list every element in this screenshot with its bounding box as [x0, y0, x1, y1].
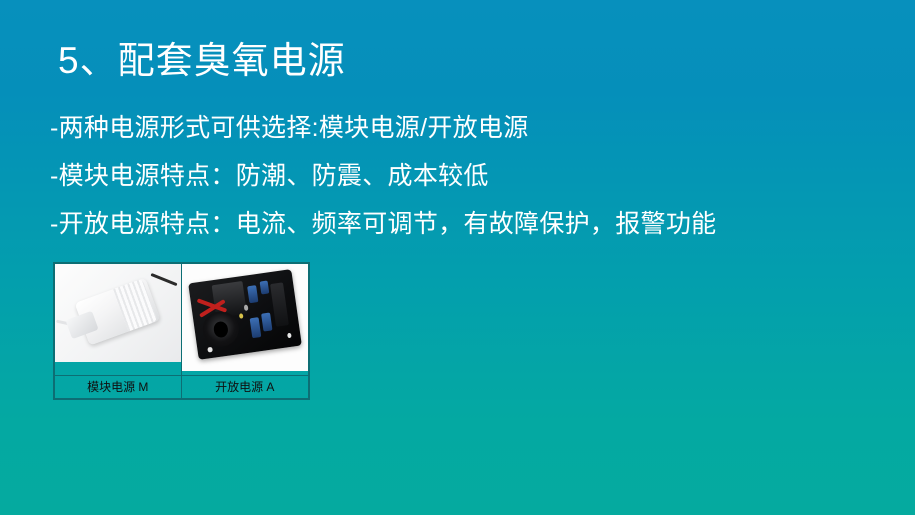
figure-cell-open	[182, 264, 309, 375]
mounting-hole	[207, 347, 212, 353]
capacitor-shape	[261, 312, 272, 331]
slide-canvas: 5、配套臭氧电源 -两种电源形式可供选择:模块电源/开放电源 -模块电源特点：防…	[0, 0, 915, 515]
mounting-hole	[287, 332, 292, 338]
capacitor-shape	[259, 280, 269, 295]
figure-image-row	[55, 264, 308, 375]
capacitor-shape	[247, 285, 259, 303]
bullet-item-1: -两种电源形式可供选择:模块电源/开放电源	[50, 113, 870, 143]
pcb-board-shape	[188, 269, 301, 359]
module-power-supply-photo	[55, 264, 181, 362]
module-cable-right-icon	[151, 273, 178, 286]
capacitor-shape	[249, 317, 261, 338]
component-dot	[238, 313, 243, 319]
page-title: 5、配套臭氧电源	[58, 38, 346, 84]
bullet-item-3: -开放电源特点：电流、频率可调节，有故障保护，报警功能	[50, 209, 870, 239]
figure-cell-module	[55, 264, 182, 375]
figure-table: 模块电源 M 开放电源 A	[53, 262, 310, 400]
component-dot	[243, 304, 248, 310]
figure-caption-module: 模块电源 M	[55, 376, 182, 398]
open-power-supply-photo	[182, 264, 309, 371]
bullet-list: -两种电源形式可供选择:模块电源/开放电源 -模块电源特点：防潮、防震、成本较低…	[50, 113, 870, 257]
figure-caption-row: 模块电源 M 开放电源 A	[55, 375, 308, 398]
module-fins-shape	[113, 279, 158, 332]
bullet-item-2: -模块电源特点：防潮、防震、成本较低	[50, 161, 870, 191]
heatsink-shape	[270, 282, 289, 326]
figure-caption-open: 开放电源 A	[182, 376, 309, 398]
